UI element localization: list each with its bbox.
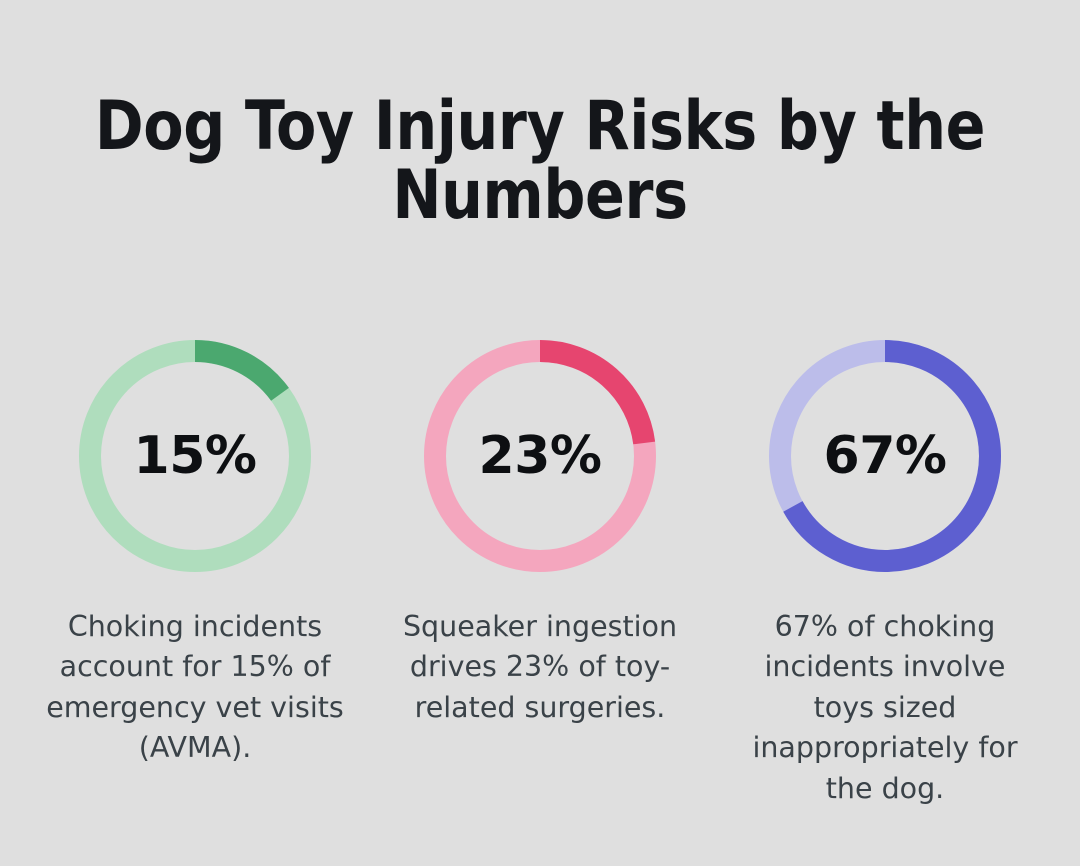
stat-card-toy-sizing: 67% 67% of choking incidents involve toy…	[713, 340, 1058, 809]
stat-caption-1: Choking incidents account for 15% of eme…	[45, 607, 345, 769]
donut-chart-toy-sizing: 67%	[769, 340, 1001, 572]
stats-row: 15% Choking incidents account for 15% of…	[0, 340, 1080, 809]
stat-caption-3: 67% of choking incidents involve toys si…	[733, 607, 1038, 809]
donut-chart-squeaker-ingestion: 23%	[424, 340, 656, 572]
stat-card-squeaker-ingestion: 23% Squeaker ingestion drives 23% of toy…	[368, 340, 713, 728]
page-title: Dog Toy Injury Risks by the Numbers	[79, 0, 1001, 231]
donut-value-2: 23%	[424, 340, 656, 572]
stat-card-choking-incidents: 15% Choking incidents account for 15% of…	[23, 340, 368, 769]
infographic-root: Dog Toy Injury Risks by the Numbers 15% …	[0, 0, 1080, 866]
stat-caption-2: Squeaker ingestion drives 23% of toy-rel…	[394, 607, 686, 728]
donut-value-3: 67%	[769, 340, 1001, 572]
donut-chart-choking-incidents: 15%	[79, 340, 311, 572]
donut-value-1: 15%	[79, 340, 311, 572]
